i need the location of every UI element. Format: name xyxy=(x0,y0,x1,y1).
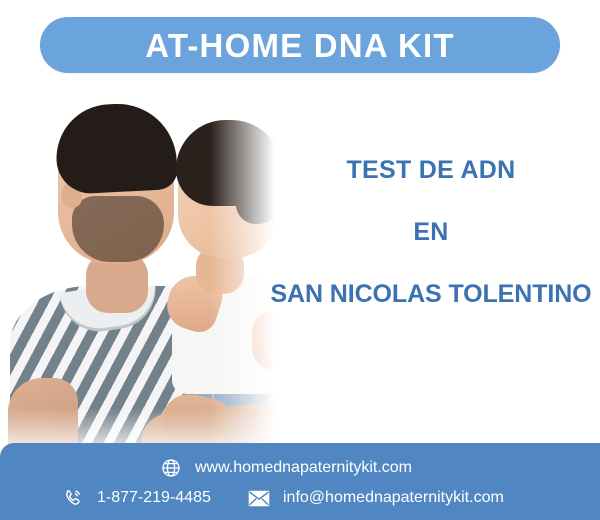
photo-canvas xyxy=(0,78,300,450)
phone-label: 1-877-219-4485 xyxy=(97,489,211,507)
banner-title: AT-HOME DNA KIT xyxy=(145,29,454,62)
website-label: www.homednapaternitykit.com xyxy=(195,459,412,477)
footer-phone[interactable]: 1-877-219-4485 xyxy=(62,487,211,509)
footer-email[interactable]: info@homednapaternitykit.com xyxy=(248,487,504,509)
envelope-icon xyxy=(248,487,270,509)
phone-icon xyxy=(62,487,84,509)
footer-website[interactable]: www.homednapaternitykit.com xyxy=(160,457,412,479)
globe-icon xyxy=(160,457,182,479)
email-label: info@homednapaternitykit.com xyxy=(283,489,504,507)
headline-line-3: SAN NICOLAS TOLENTINO xyxy=(262,282,600,307)
headline-block: TEST DE ADN EN SAN NICOLAS TOLENTINO xyxy=(262,158,600,307)
headline-line-2: EN xyxy=(262,220,600,245)
header-banner: AT-HOME DNA KIT xyxy=(40,17,560,73)
man-hair xyxy=(54,101,178,195)
promo-poster: AT-HOME DNA KIT xyxy=(0,0,600,520)
footer-bar: www.homednapaternitykit.com 1-877-219-44… xyxy=(0,443,600,520)
headline-line-1: TEST DE ADN xyxy=(262,158,600,183)
family-photo xyxy=(0,78,300,450)
man-beard xyxy=(72,196,164,262)
